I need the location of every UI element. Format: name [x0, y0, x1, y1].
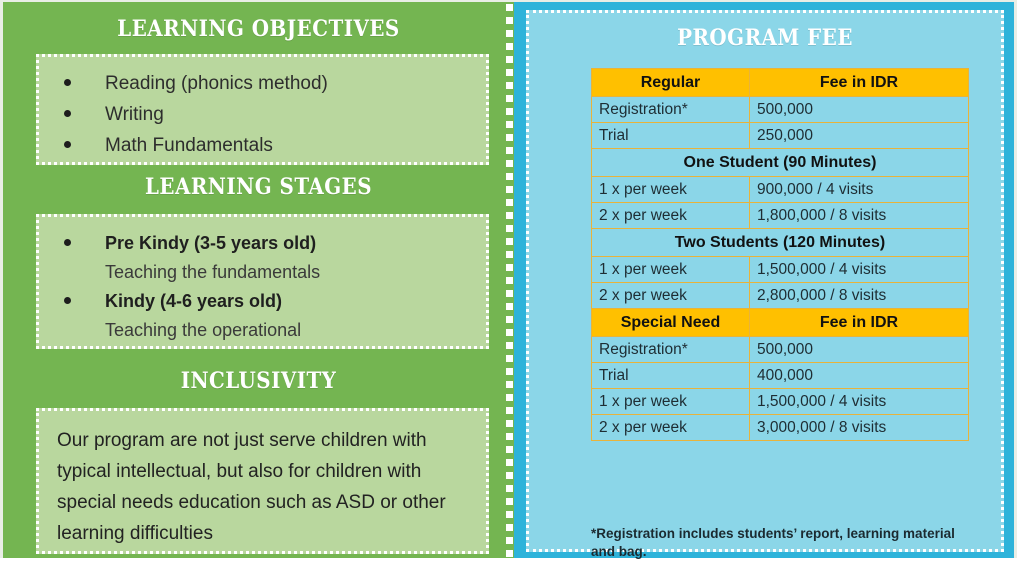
program-fee-table: Regular Fee in IDR Registration* 500,000…	[591, 68, 969, 441]
learning-stages-title: Learning Stages	[3, 176, 514, 198]
table-row: Registration* 500,000	[592, 337, 969, 363]
table-cell: 400,000	[750, 363, 969, 389]
table-cell: 1,800,000 / 8 visits	[750, 203, 969, 229]
table-row: 1 x per week 1,500,000 / 4 visits	[592, 257, 969, 283]
table-cell: Fee in IDR	[750, 309, 969, 337]
list-item: Writing	[39, 99, 486, 130]
table-cell: Two Students (120 Minutes)	[592, 229, 969, 257]
table-row: 2 x per week 2,800,000 / 8 visits	[592, 283, 969, 309]
inclusivity-text: Our program are not just serve children …	[39, 411, 486, 549]
table-cell: Registration*	[592, 97, 750, 123]
stage-name: Pre Kindy (3-5 years old)	[105, 229, 486, 258]
table-cell: 500,000	[750, 337, 969, 363]
table-cell: 2,800,000 / 8 visits	[750, 283, 969, 309]
table-cell: 1,500,000 / 4 visits	[750, 389, 969, 415]
program-info-slide: Learning Objectives Reading (phonics met…	[0, 0, 1020, 565]
list-item: Math Fundamentals	[39, 130, 486, 161]
table-cell: Registration*	[592, 337, 750, 363]
table-cell: Fee in IDR	[750, 69, 969, 97]
table-row: Two Students (120 Minutes)	[592, 229, 969, 257]
bullet-icon	[64, 297, 71, 304]
left-green-panel: Learning Objectives Reading (phonics met…	[0, 0, 514, 558]
table-row: 1 x per week 900,000 / 4 visits	[592, 177, 969, 203]
table-row: 1 x per week 1,500,000 / 4 visits	[592, 389, 969, 415]
table-cell: 1 x per week	[592, 177, 750, 203]
objective-text: Reading (phonics method)	[105, 73, 328, 94]
bullet-icon	[64, 239, 71, 246]
table-cell: 2 x per week	[592, 415, 750, 441]
table-cell: 2 x per week	[592, 283, 750, 309]
bullet-icon	[64, 79, 71, 86]
registration-footnote: *Registration includes students’ report,…	[591, 525, 971, 561]
bullet-icon	[64, 110, 71, 117]
stage-description: Teaching the operational	[105, 316, 486, 345]
table-row: Trial 400,000	[592, 363, 969, 389]
list-item: Pre Kindy (3-5 years old) Teaching the f…	[39, 229, 486, 287]
table-cell: 1 x per week	[592, 389, 750, 415]
right-blue-panel: Program Fee Regular Fee in IDR Registrat…	[514, 0, 1017, 558]
table-row: Trial 250,000	[592, 123, 969, 149]
objective-text: Writing	[105, 104, 164, 125]
table-cell: One Student (90 Minutes)	[592, 149, 969, 177]
table-row: 2 x per week 3,000,000 / 8 visits	[592, 415, 969, 441]
program-fee-box: Program Fee Regular Fee in IDR Registrat…	[526, 10, 1004, 552]
bullet-icon	[64, 141, 71, 148]
stages-list: Pre Kindy (3-5 years old) Teaching the f…	[39, 217, 486, 345]
program-fee-title: Program Fee	[529, 27, 1001, 49]
table-row: 2 x per week 1,800,000 / 8 visits	[592, 203, 969, 229]
table-row: Special Need Fee in IDR	[592, 309, 969, 337]
table-row: Registration* 500,000	[592, 97, 969, 123]
table-cell: 2 x per week	[592, 203, 750, 229]
table-cell: Trial	[592, 363, 750, 389]
table-cell: Regular	[592, 69, 750, 97]
inclusivity-title: Inclusivity	[3, 370, 514, 392]
inclusivity-box: Our program are not just serve children …	[36, 408, 489, 554]
table-row: One Student (90 Minutes)	[592, 149, 969, 177]
table-cell: 500,000	[750, 97, 969, 123]
learning-stages-box: Pre Kindy (3-5 years old) Teaching the f…	[36, 214, 489, 349]
learning-objectives-title: Learning Objectives	[3, 18, 514, 40]
stage-name: Kindy (4-6 years old)	[105, 287, 486, 316]
table-cell: Special Need	[592, 309, 750, 337]
table-cell: 1,500,000 / 4 visits	[750, 257, 969, 283]
table-cell: Trial	[592, 123, 750, 149]
fee-table-body: Regular Fee in IDR Registration* 500,000…	[592, 69, 969, 441]
list-item: Kindy (4-6 years old) Teaching the opera…	[39, 287, 486, 345]
table-cell: 900,000 / 4 visits	[750, 177, 969, 203]
list-item: Reading (phonics method)	[39, 68, 486, 99]
objective-text: Math Fundamentals	[105, 135, 273, 156]
table-cell: 3,000,000 / 8 visits	[750, 415, 969, 441]
stage-description: Teaching the fundamentals	[105, 258, 486, 287]
table-row: Regular Fee in IDR	[592, 69, 969, 97]
table-cell: 1 x per week	[592, 257, 750, 283]
objectives-list: Reading (phonics method) Writing Math Fu…	[39, 57, 486, 161]
learning-objectives-box: Reading (phonics method) Writing Math Fu…	[36, 54, 489, 165]
table-cell: 250,000	[750, 123, 969, 149]
